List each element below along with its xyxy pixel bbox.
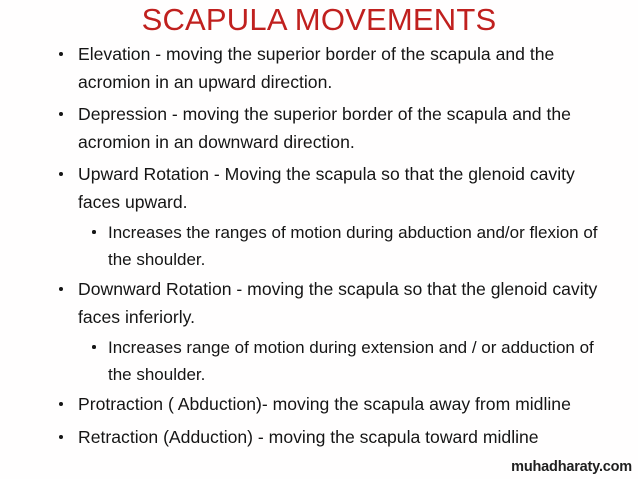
bullet-dot-icon [59,172,63,176]
list-item-label: Retraction (Adduction) - moving the scap… [78,424,612,452]
list-item: Upward Rotation - Moving the scapula so … [0,161,638,216]
list-item-label: Increases range of motion during extensi… [108,334,598,388]
bullet-dot-icon [92,345,96,349]
list-item: Downward Rotation - moving the scapula s… [0,276,638,331]
list-item: Protraction ( Abduction)- moving the sca… [0,391,638,419]
slide-canvas: SCAPULA MOVEMENTS Elevation - moving the… [0,0,638,479]
bullet-dot-icon [59,52,63,56]
bullet-dot-icon [59,402,63,406]
bullet-dot-icon [59,112,63,116]
list-item: Increases range of motion during extensi… [0,334,638,388]
list-item-label: Downward Rotation - moving the scapula s… [78,276,612,331]
list-item-label: Elevation - moving the superior border o… [78,41,612,96]
scapula-movements-list: Elevation - moving the superior border o… [0,41,638,451]
list-item-label: Depression - moving the superior border … [78,101,612,156]
bullet-dot-icon [59,287,63,291]
bullet-dot-icon [92,230,96,234]
list-item-label: Increases the ranges of motion during ab… [108,219,598,273]
list-item: Elevation - moving the superior border o… [0,41,638,96]
list-item: Depression - moving the superior border … [0,101,638,156]
list-item-label: Upward Rotation - Moving the scapula so … [78,161,612,216]
watermark: muhadharaty.com [511,459,632,475]
bullet-dot-icon [59,435,63,439]
page-title: SCAPULA MOVEMENTS [0,2,638,38]
list-item: Increases the ranges of motion during ab… [0,219,638,273]
list-item: Retraction (Adduction) - moving the scap… [0,424,638,452]
list-item-label: Protraction ( Abduction)- moving the sca… [78,391,612,419]
